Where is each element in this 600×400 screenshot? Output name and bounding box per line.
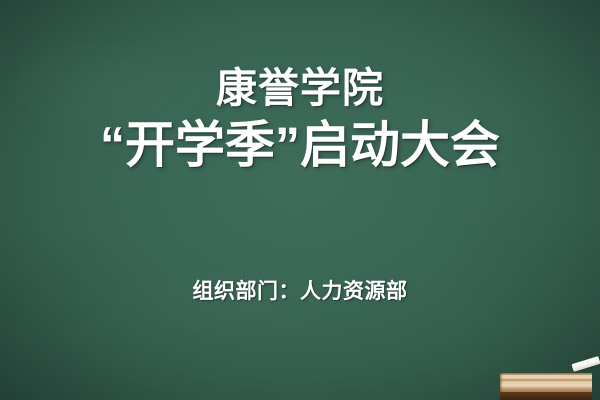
slide-text-layer: 康誉学院 “开学季”启动大会 组织部门：人力资源部 [0, 0, 600, 400]
chalk-ledge-face [500, 373, 592, 392]
page-title: 康誉学院 “开学季”启动大会 [0, 62, 600, 176]
chalk-ledge [500, 373, 592, 400]
title-line-2: “开学季”启动大会 [0, 114, 600, 176]
title-line-1: 康誉学院 [0, 62, 600, 114]
chalkboard-slide: 康誉学院 “开学季”启动大会 组织部门：人力资源部 [0, 0, 600, 400]
chalk-ledge-base [500, 392, 592, 400]
chalk-ledge-left-shading [500, 373, 503, 392]
subtitle-organizing-department: 组织部门：人力资源部 [0, 275, 600, 305]
